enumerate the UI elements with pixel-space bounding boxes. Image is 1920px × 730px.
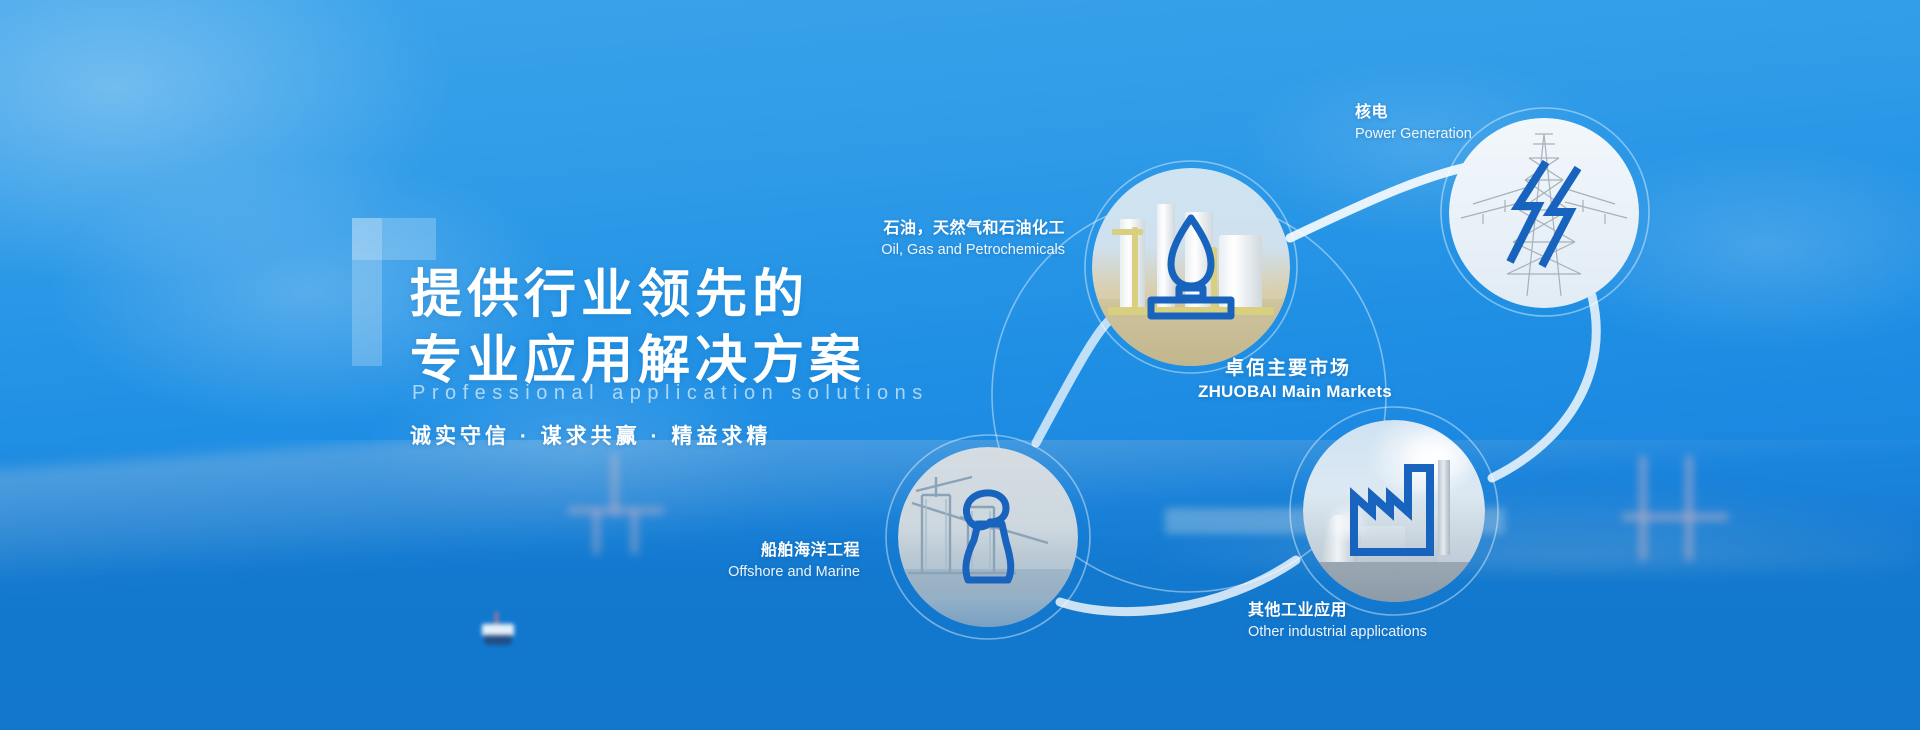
port-crane (1620, 456, 1730, 560)
market-label-oil-gas: 石油，天然气和石油化工 Oil, Gas and Petrochemicals (640, 218, 1065, 260)
diagram-center-title-en: ZHUOBAI Main Markets (1198, 382, 1378, 402)
hero-banner: 提供行业领先的 专业应用解决方案 Professional applicatio… (0, 0, 1920, 730)
market-label-industrial-cn: 其他工业应用 (1248, 600, 1427, 622)
tagline: 诚实守信 · 谋求共赢 · 精益求精 (410, 420, 771, 450)
market-label-industrial: 其他工业应用 Other industrial applications (1248, 600, 1427, 642)
small-vessel (480, 612, 516, 646)
decorative-bracket (352, 218, 436, 366)
market-label-marine: 船舶海洋工程 Offshore and Marine (530, 540, 860, 582)
market-label-oil-gas-cn: 石油，天然气和石油化工 (640, 218, 1065, 240)
subtitle-english: Professional application solutions (412, 382, 929, 405)
market-node-industrial[interactable] (1303, 420, 1485, 602)
market-label-marine-cn: 船舶海洋工程 (530, 540, 860, 562)
market-node-power[interactable] (1449, 118, 1639, 308)
market-node-oil-gas[interactable] (1092, 168, 1290, 366)
market-label-oil-gas-en: Oil, Gas and Petrochemicals (640, 240, 1065, 260)
market-label-marine-en: Offshore and Marine (530, 562, 860, 582)
connector-power-to-industrial (1492, 296, 1596, 478)
connector-industrial-to-marine (1060, 560, 1296, 612)
headline-line-1: 提供行业领先的 (410, 262, 866, 328)
page-title: 提供行业领先的 专业应用解决方案 (410, 262, 866, 394)
market-node-marine[interactable] (898, 447, 1078, 627)
market-label-industrial-en: Other industrial applications (1248, 622, 1427, 642)
port-crane (560, 454, 670, 554)
